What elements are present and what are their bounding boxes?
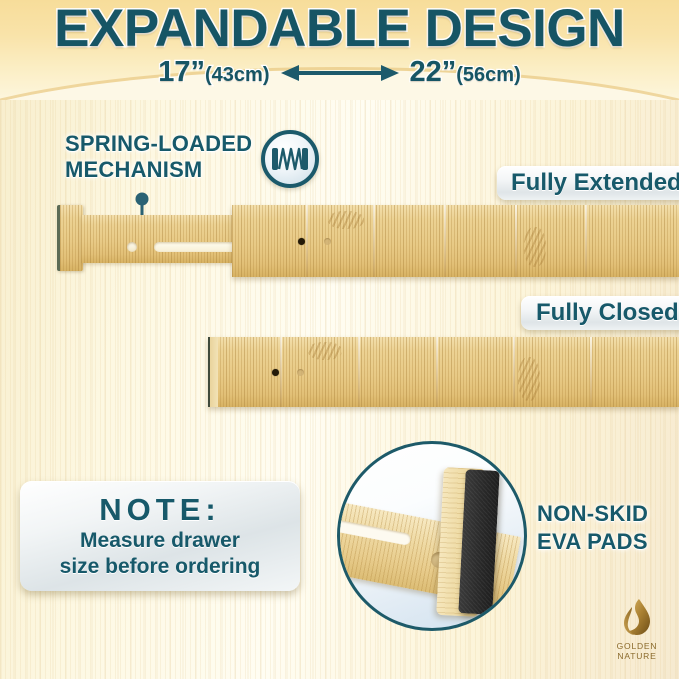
flame-leaf-icon <box>620 598 654 638</box>
divider-closed <box>208 337 679 407</box>
page-title: EXPANDABLE DESIGN <box>0 0 679 60</box>
divider-closed-slab <box>208 337 679 407</box>
bamboo-seam <box>373 205 375 277</box>
dimension-max-value: 22” <box>410 56 457 88</box>
eva-callout-line2: EVA PADS <box>537 528 677 556</box>
dimension-min: 17”(43cm) <box>158 56 269 89</box>
bamboo-seam <box>306 205 308 277</box>
spring-coil-icon <box>261 130 319 188</box>
label-fully-closed: Fully Closed <box>521 296 679 330</box>
dimension-min-metric: (43cm) <box>205 64 269 86</box>
eva-callout-line1: NON-SKID <box>537 500 677 528</box>
slab-pin-hole <box>297 369 304 376</box>
bamboo-seam <box>436 337 438 407</box>
bamboo-knot <box>518 357 540 401</box>
eva-callout-text: NON-SKID EVA PADS <box>537 500 677 556</box>
bamboo-seam <box>590 337 592 407</box>
label-fully-extended-text: Fully Extended <box>511 169 679 197</box>
dimension-min-value: 17” <box>158 56 205 88</box>
bamboo-seam <box>444 205 446 277</box>
bamboo-knot <box>328 211 364 229</box>
divider-end-cap <box>57 205 83 271</box>
eva-pad-detail-circle <box>337 441 527 631</box>
spring-callout-line1: SPRING-LOADED <box>65 131 280 157</box>
bamboo-seam <box>513 337 515 407</box>
note-line1: Measure drawer <box>80 528 240 554</box>
dimension-range: 17”(43cm) 22”(56cm) <box>0 56 679 89</box>
label-fully-extended: Fully Extended <box>497 166 679 200</box>
dimension-max: 22”(56cm) <box>410 56 521 89</box>
brand-logo-text: GOLDEN NATURE <box>617 641 658 661</box>
eva-detail-slot <box>337 519 412 546</box>
bamboo-knot <box>308 342 342 360</box>
slab-screw-hole <box>272 369 279 376</box>
slab-screw-hole <box>298 238 305 245</box>
infographic-canvas: EXPANDABLE DESIGN 17”(43cm) 22”(56cm) SP… <box>0 0 679 679</box>
divider-extended <box>57 205 679 277</box>
brand-name-line2: NATURE <box>617 651 658 661</box>
note-line2: size before ordering <box>60 554 261 580</box>
note-title: NOTE: <box>99 492 220 528</box>
bamboo-seam <box>585 205 587 277</box>
bamboo-seam <box>515 205 517 277</box>
bamboo-knot <box>524 227 546 267</box>
bamboo-seam <box>358 337 360 407</box>
note-box: NOTE: Measure drawer size before orderin… <box>20 481 300 591</box>
dimension-max-metric: (56cm) <box>456 64 520 86</box>
double-arrow-icon <box>279 62 401 84</box>
divider-closed-edge <box>208 337 218 407</box>
bamboo-seam <box>280 337 282 407</box>
spring-callout-text: SPRING-LOADED MECHANISM <box>65 131 280 183</box>
rail-hole <box>127 242 137 252</box>
spring-callout-line2: MECHANISM <box>65 157 280 183</box>
slab-pin-hole <box>324 238 331 245</box>
label-fully-closed-text: Fully Closed <box>536 299 679 327</box>
divider-outer-slab <box>232 205 679 277</box>
brand-name-line1: GOLDEN <box>617 641 658 651</box>
brand-logo: GOLDEN NATURE <box>603 598 671 661</box>
